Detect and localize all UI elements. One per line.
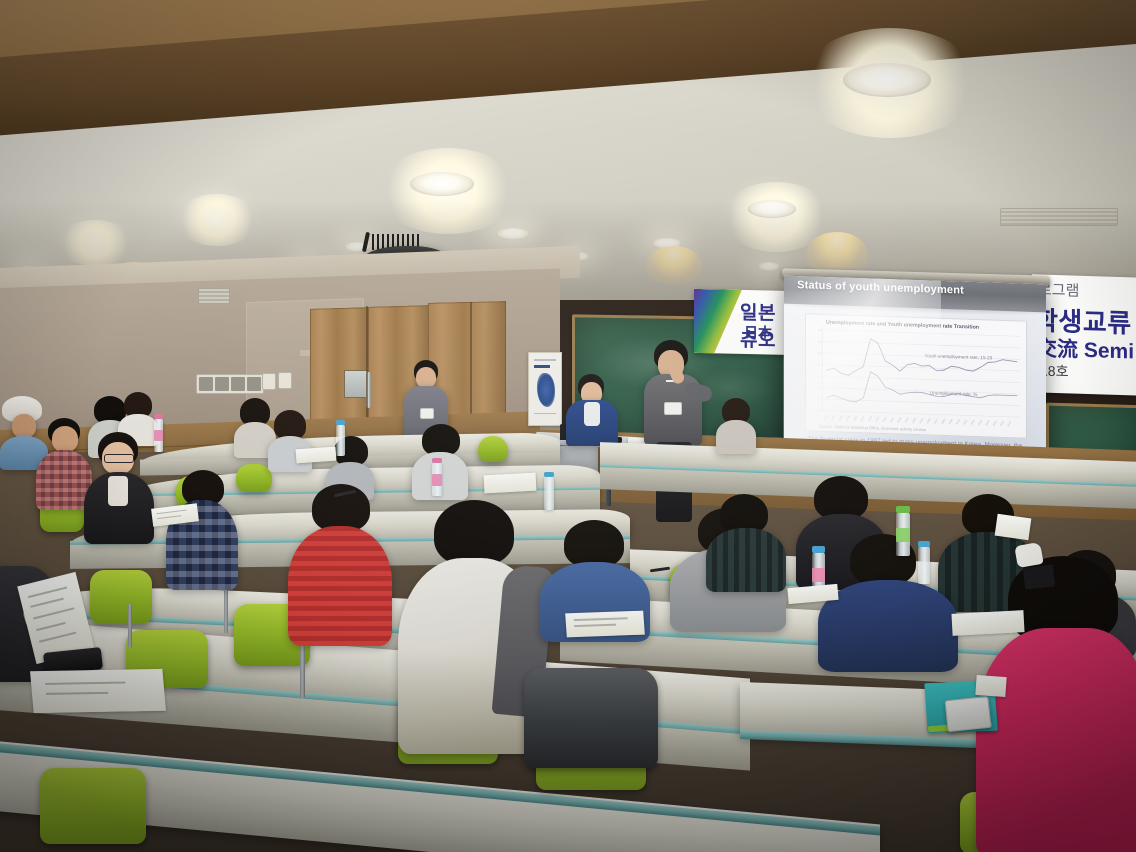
paper-line [39, 632, 76, 643]
backpack [524, 668, 658, 768]
chair-leg [128, 604, 132, 648]
handout-paper[interactable] [975, 675, 1006, 697]
svg-text:2010: 2010 [955, 418, 961, 426]
switch-key[interactable] [215, 377, 229, 391]
svg-text:2004: 2004 [911, 416, 917, 424]
paper-line [28, 586, 67, 598]
svg-text:2011: 2011 [962, 418, 968, 426]
light-switch-panel[interactable] [196, 374, 264, 394]
laptop[interactable] [1023, 564, 1055, 589]
student-torso [288, 526, 392, 646]
chair[interactable] [478, 436, 508, 462]
bottle-cap [918, 541, 930, 547]
svg-text:1999: 1999 [874, 415, 880, 423]
svg-text:0: 0 [818, 409, 820, 413]
poster-figure [537, 373, 555, 407]
student-hair [564, 520, 624, 568]
svg-text:2013: 2013 [977, 418, 983, 426]
handout-paper[interactable] [484, 473, 537, 494]
chair[interactable] [90, 570, 152, 624]
poster-line [534, 359, 556, 361]
banner-right: 로그램 학생교류 交流 Semi 18호 [1032, 274, 1136, 395]
svg-text:6: 6 [818, 374, 820, 378]
student-far-right-a [716, 398, 756, 452]
handout-paper[interactable] [565, 611, 645, 638]
svg-text:2009: 2009 [947, 417, 953, 425]
paper-line [36, 622, 66, 631]
svg-text:2003: 2003 [903, 416, 909, 424]
slide-chart-container: Unemployment rate and Youth unemployment… [805, 313, 1027, 438]
seated-presenter-shirt [584, 402, 600, 426]
tissue-paper [1014, 542, 1043, 568]
poster-line [534, 413, 556, 414]
paper-line [33, 607, 74, 619]
student-head [12, 414, 36, 438]
svg-text:2014: 2014 [984, 419, 990, 427]
tablet-device[interactable] [944, 696, 991, 732]
bottle-cap [896, 506, 910, 513]
svg-text:2000: 2000 [881, 415, 887, 423]
student-torso [818, 580, 958, 672]
handout-paper[interactable] [30, 669, 166, 713]
svg-text:2002: 2002 [896, 416, 902, 424]
svg-text:2001: 2001 [889, 416, 895, 424]
svg-text:2007: 2007 [933, 417, 939, 425]
poster-band [534, 365, 550, 368]
svg-text:1995: 1995 [845, 414, 851, 422]
svg-text:2005: 2005 [918, 417, 924, 425]
chair[interactable] [236, 464, 272, 492]
student-hair [434, 500, 514, 566]
student-foreground-pink [976, 556, 1136, 852]
chair-leg [300, 646, 305, 698]
svg-text:2008: 2008 [940, 417, 946, 425]
lecture-hall-photo: 일본 츄오 日本 로그램 학생교류 交流 Semi 18호 Status of … [0, 0, 1136, 852]
svg-text:2017: 2017 [1006, 419, 1012, 427]
student-inner-shirt [108, 476, 128, 506]
paper-line [574, 617, 628, 620]
switch-key[interactable] [199, 377, 213, 391]
bottle-cap [544, 472, 554, 477]
svg-text:10: 10 [818, 351, 822, 355]
svg-text:4: 4 [818, 386, 820, 390]
svg-text:2: 2 [818, 397, 820, 401]
projector-mount-arm [362, 232, 370, 252]
bottle-label [896, 528, 910, 542]
paper-line [157, 510, 187, 515]
handout-paper[interactable] [296, 447, 337, 464]
chair-leg [224, 588, 228, 634]
wall-poster [528, 352, 562, 426]
bottle-cap [812, 546, 825, 553]
presenter-standing [640, 340, 712, 522]
svg-text:1992: 1992 [823, 413, 829, 421]
handout-paper[interactable] [995, 514, 1032, 541]
wall-vent [198, 288, 230, 304]
paper-line [45, 682, 125, 685]
water-bottle [336, 424, 345, 456]
paper-line [157, 515, 181, 519]
chair[interactable] [40, 768, 146, 844]
svg-text:1997: 1997 [859, 415, 865, 423]
paper-line [30, 598, 63, 608]
glasses [104, 454, 134, 463]
staff-name-badge [420, 408, 434, 419]
svg-text:2006: 2006 [925, 417, 931, 425]
svg-text:2012: 2012 [969, 418, 975, 426]
bottle-label [432, 474, 442, 486]
unemployment-line-chart: 141210 864 20 1992 1993 1994 1995 1996 1… [806, 314, 1026, 437]
student-hair [312, 484, 370, 532]
svg-text:1998: 1998 [867, 415, 873, 423]
handout-paper[interactable] [951, 610, 1024, 636]
bottle-cap [432, 458, 442, 463]
water-bottle [918, 546, 930, 584]
student-plaid-mid [166, 470, 238, 588]
paper-line [46, 692, 108, 695]
bottle-cap [154, 414, 163, 419]
svg-text:1994: 1994 [837, 414, 843, 422]
door-window [344, 370, 368, 398]
paper-line [574, 624, 616, 627]
presenter-seated [566, 374, 618, 444]
student-torso [976, 628, 1136, 852]
student-dark-plaid [706, 494, 786, 590]
presenter-name-badge [664, 402, 682, 415]
bottle-label [812, 568, 825, 582]
ceiling-downlight [843, 63, 931, 97]
staff-head [416, 367, 436, 388]
water-bottle [544, 476, 554, 510]
ceiling-downlight [410, 172, 474, 196]
switch-key[interactable] [247, 377, 261, 391]
light-switch-single[interactable] [278, 372, 292, 389]
svg-text:1996: 1996 [852, 414, 858, 422]
student-glasses-black-cardigan [84, 432, 154, 542]
switch-key[interactable] [231, 377, 245, 391]
svg-text:2016: 2016 [999, 419, 1005, 427]
svg-text:12: 12 [818, 340, 822, 344]
bottle-cap [336, 420, 345, 425]
student-torso [706, 528, 786, 592]
svg-text:2015: 2015 [991, 419, 997, 427]
svg-text:14: 14 [818, 328, 822, 332]
student-torso [716, 420, 756, 454]
student-head [52, 426, 78, 452]
student-navy-jacket [818, 534, 958, 668]
bottle-label [154, 430, 163, 441]
light-switch-single[interactable] [262, 373, 276, 390]
svg-text:1993: 1993 [830, 414, 836, 422]
banner-left-line2: 日本 [744, 322, 772, 343]
student-red-striped-sweater [288, 484, 392, 644]
svg-text:8: 8 [818, 363, 820, 367]
